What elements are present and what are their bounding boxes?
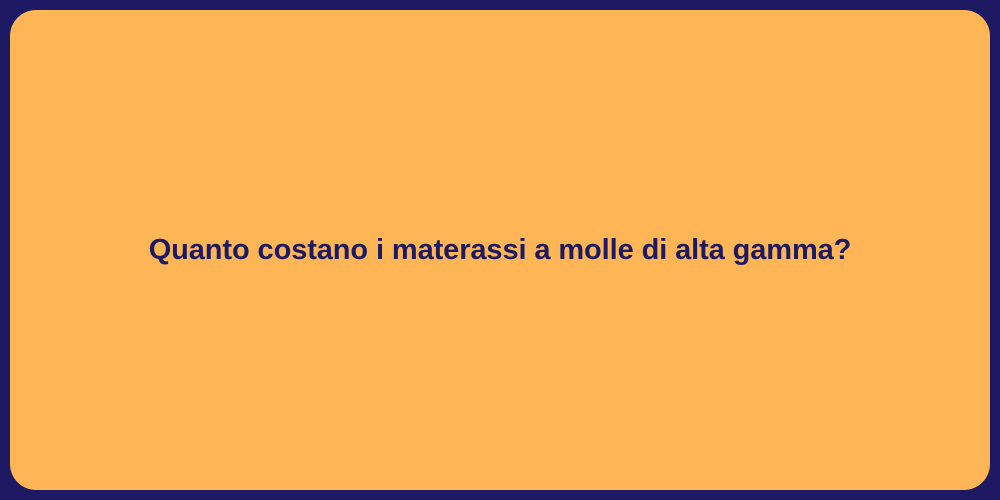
- banner-card: Quanto costano i materassi a molle di al…: [10, 10, 990, 490]
- banner-container: Quanto costano i materassi a molle di al…: [0, 0, 1000, 500]
- banner-headline: Quanto costano i materassi a molle di al…: [109, 232, 892, 268]
